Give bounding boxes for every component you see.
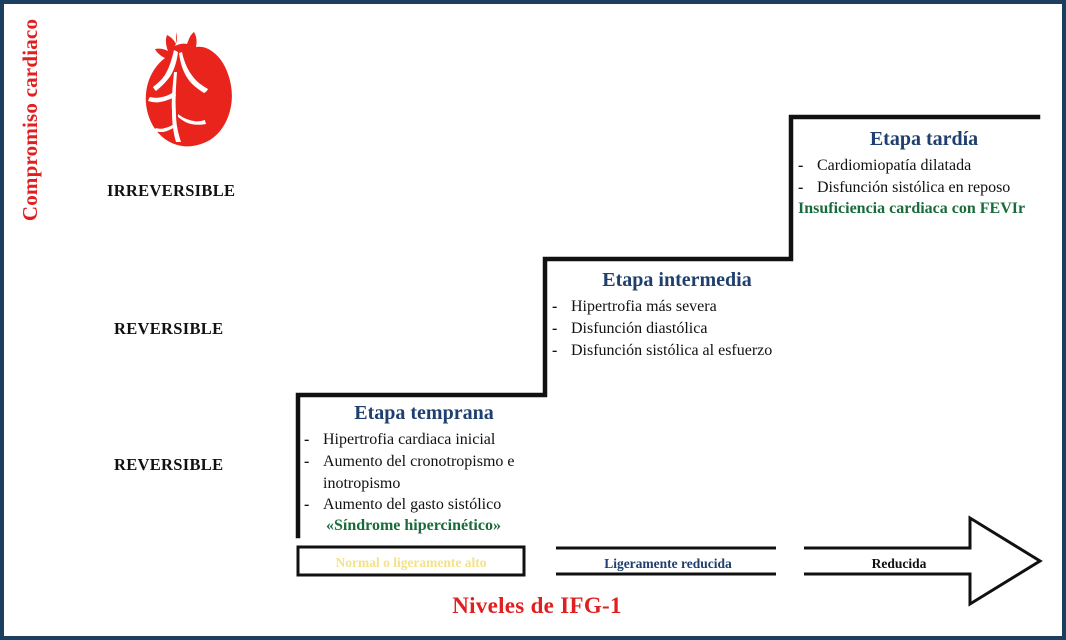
bullet-text: Aumento del cronotropismo e [323,453,515,470]
list-item: -Hipertrofia más severa [552,297,802,318]
anatomical-heart-icon [124,26,236,148]
stage-block-early: Etapa temprana -Hipertrofia cardiaca ini… [304,402,544,535]
bullet-text: Hipertrofia más severa [571,298,717,315]
bullet-dash: - [552,297,557,318]
bullet-text: Aumento del gasto sistólico [323,496,501,513]
list-item: -Hipertrofia cardiaca inicial [304,430,544,451]
bullet-text: Disfunción diastólica [571,320,707,337]
stage-bullets-intermediate: -Hipertrofia más severa -Disfunción dias… [552,297,802,361]
bullet-text: Cardiomiopatía dilatada [817,157,971,174]
figure-canvas: Compromiso cardiaco IRREVERSIBLE REVERSI… [0,0,1066,640]
bullet-dash: - [798,156,803,177]
level-label-normal: Normal o ligeramente alto [298,555,524,571]
list-item: -Aumento del cronotropismo e [304,452,544,473]
list-item-continued: inotropismo [304,474,544,495]
label-irreversible: IRREVERSIBLE [107,181,235,201]
bullet-text: Disfunción sistólica al esfuerzo [571,342,772,359]
bullet-text: Hipertrofia cardiaca inicial [323,431,495,448]
list-item: -Aumento del gasto sistólico [304,495,544,516]
stage-block-intermediate: Etapa intermedia -Hipertrofia más severa… [552,269,802,362]
stage-title-intermediate: Etapa intermedia [552,269,802,292]
label-reversible-middle: REVERSIBLE [114,319,223,339]
stage-bullets-early: -Hipertrofia cardiaca inicial -Aumento d… [304,430,544,516]
bullet-dash: - [304,495,309,516]
stage-highlight-early: «Síndrome hipercinético» [304,517,544,535]
bullet-dash: - [552,319,557,340]
list-item: -Disfunción sistólica en reposo [798,178,1050,199]
stage-bullets-late: -Cardiomiopatía dilatada -Disfunción sis… [798,156,1050,199]
list-item: -Disfunción diastólica [552,319,802,340]
stage-title-early: Etapa temprana [304,402,544,425]
bullet-dash: - [304,452,309,473]
bullet-dash: - [552,341,557,362]
stage-highlight-late: Insuficiencia cardiaca con FEVIr [798,200,1050,218]
y-axis-label: Compromiso cardiaco [18,0,43,240]
list-item: -Cardiomiopatía dilatada [798,156,1050,177]
bullet-dash: - [304,430,309,451]
bullet-dash: - [798,178,803,199]
stage-title-late: Etapa tardía [798,128,1050,151]
stage-block-late: Etapa tardía -Cardiomiopatía dilatada -D… [798,128,1050,218]
bullet-text: inotropismo [323,475,400,492]
level-label-slightly-reduced: Ligeramente reducida [562,556,774,572]
x-axis-label: Niveles de IFG-1 [4,593,1066,619]
label-reversible-bottom: REVERSIBLE [114,455,223,475]
level-label-reduced: Reducida [810,556,988,572]
list-item: -Disfunción sistólica al esfuerzo [552,341,802,362]
bullet-text: Disfunción sistólica en reposo [817,179,1010,196]
